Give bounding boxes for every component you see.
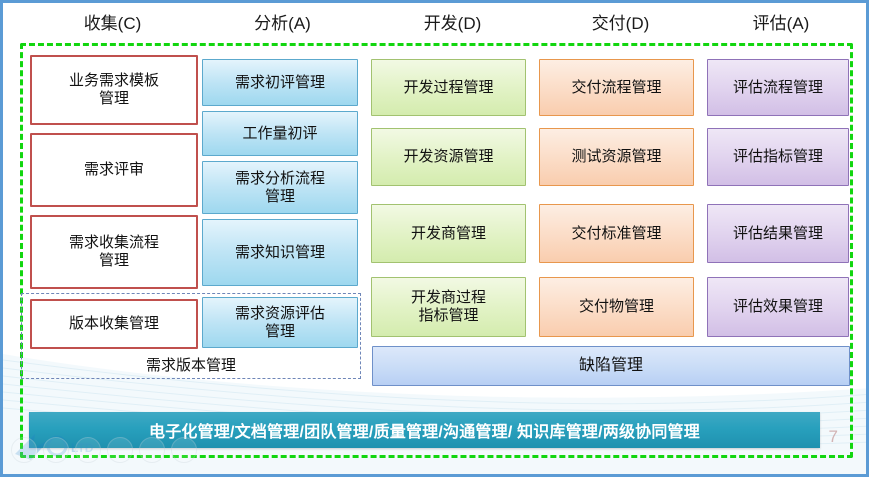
node-deliver-3-label: 交付物管理 (579, 298, 654, 316)
node-develop-3[interactable]: 开发商过程指标管理 (371, 277, 526, 337)
node-analyze-3[interactable]: 需求知识管理 (202, 219, 358, 286)
node-evaluate-0-label: 评估流程管理 (733, 79, 823, 97)
node-analyze-3-label: 需求知识管理 (235, 244, 325, 262)
node-deliver-0[interactable]: 交付流程管理 (539, 59, 694, 116)
node-analyze-1-label: 工作量初评 (242, 125, 317, 143)
node-analyze-1[interactable]: 工作量初评 (202, 111, 358, 156)
column-header-analyze: 分析(A) (200, 11, 365, 37)
node-analyze-0-label: 需求初评管理 (235, 74, 325, 92)
node-deliver-1-label: 测试资源管理 (571, 148, 661, 166)
node-evaluate-0[interactable]: 评估流程管理 (707, 59, 849, 116)
node-develop-1[interactable]: 开发资源管理 (371, 128, 526, 186)
node-evaluate-2-label: 评估结果管理 (733, 225, 823, 243)
node-analyze-2-label: 需求分析流程管理 (235, 170, 325, 205)
node-develop-0-label: 开发过程管理 (403, 79, 493, 97)
node-deliver-2[interactable]: 交付标准管理 (539, 204, 694, 263)
column-header-collect: 收集(C) (25, 11, 200, 37)
node-collect-1[interactable]: 需求评审 (30, 133, 198, 207)
platform-capability-bar[interactable]: 电子化管理/文档管理/团队管理/质量管理/沟通管理/ 知识库管理/两级协同管理 (29, 412, 820, 448)
page-number: 7 (829, 427, 838, 447)
node-evaluate-3-label: 评估效果管理 (733, 298, 823, 316)
column-header-deliver: 交付(D) (538, 11, 703, 37)
node-develop-0[interactable]: 开发过程管理 (371, 59, 526, 116)
column-header-develop: 开发(D) (370, 11, 535, 37)
node-defect-management[interactable]: 缺陷管理 (372, 346, 850, 386)
node-deliver-2-label: 交付标准管理 (571, 225, 661, 243)
node-evaluate-3[interactable]: 评估效果管理 (707, 277, 849, 337)
version-management-subgroup-label: 需求版本管理 (21, 351, 361, 377)
node-deliver-1[interactable]: 测试资源管理 (539, 128, 694, 186)
node-evaluate-1-label: 评估指标管理 (733, 148, 823, 166)
node-collect-0-label: 业务需求模板管理 (69, 72, 159, 107)
node-evaluate-2[interactable]: 评估结果管理 (707, 204, 849, 263)
node-defect-management-label: 缺陷管理 (579, 357, 643, 376)
node-analyze-0[interactable]: 需求初评管理 (202, 59, 358, 106)
node-deliver-0-label: 交付流程管理 (571, 79, 661, 97)
node-collect-1-label: 需求评审 (84, 161, 144, 179)
column-header-evaluate: 评估(A) (706, 11, 856, 37)
node-evaluate-1[interactable]: 评估指标管理 (707, 128, 849, 186)
node-develop-3-label: 开发商过程指标管理 (411, 289, 486, 324)
node-collect-0[interactable]: 业务需求模板管理 (30, 55, 198, 125)
slide-canvas: 收集(C) 分析(A) 开发(D) 交付(D) 评估(A) 业务需求模板管理 需… (0, 0, 869, 477)
node-develop-2-label: 开发商管理 (411, 225, 486, 243)
node-collect-2[interactable]: 需求收集流程管理 (30, 215, 198, 289)
node-deliver-3[interactable]: 交付物管理 (539, 277, 694, 337)
platform-capability-label: 电子化管理/文档管理/团队管理/质量管理/沟通管理/ 知识库管理/两级协同管理 (149, 418, 700, 442)
node-collect-2-label: 需求收集流程管理 (69, 234, 159, 269)
node-develop-1-label: 开发资源管理 (403, 148, 493, 166)
node-analyze-2[interactable]: 需求分析流程管理 (202, 161, 358, 214)
node-develop-2[interactable]: 开发商管理 (371, 204, 526, 263)
